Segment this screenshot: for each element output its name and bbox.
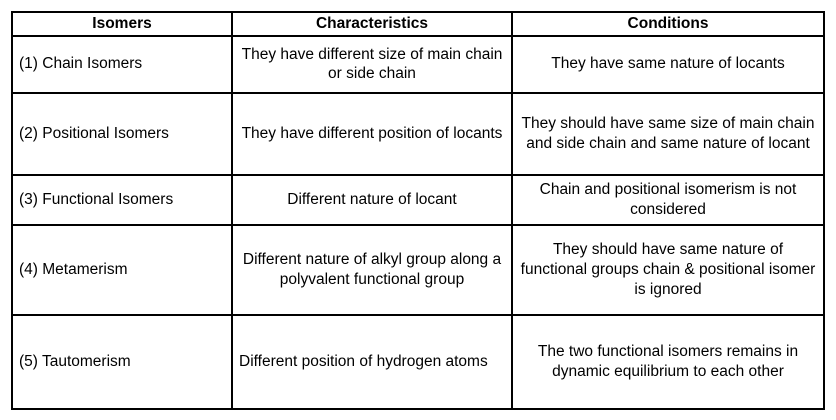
table-row: (3) Functional Isomers Different nature …: [12, 175, 824, 225]
cell-isomer-name: (3) Functional Isomers: [12, 175, 232, 225]
column-header-isomers: Isomers: [12, 12, 232, 36]
cell-isomer-name: (5) Tautomerism: [12, 315, 232, 409]
cell-characteristics: Different position of hydrogen atoms: [232, 315, 512, 409]
table-row: (4) Metamerism Different nature of alkyl…: [12, 225, 824, 315]
column-header-characteristics: Characteristics: [232, 12, 512, 36]
cell-conditions: They should have same nature of function…: [512, 225, 824, 315]
cell-isomer-name: (1) Chain Isomers: [12, 36, 232, 93]
cell-conditions: Chain and positional isomerism is not co…: [512, 175, 824, 225]
cell-conditions: They have same nature of locants: [512, 36, 824, 93]
cell-characteristics: They have different position of locants: [232, 93, 512, 175]
table-header-row: Isomers Characteristics Conditions: [12, 12, 824, 36]
isomer-comparison-table: Isomers Characteristics Conditions (1) C…: [11, 11, 825, 410]
table-row: (5) Tautomerism Different position of hy…: [12, 315, 824, 409]
cell-isomer-name: (2) Positional Isomers: [12, 93, 232, 175]
table-row: (2) Positional Isomers They have differe…: [12, 93, 824, 175]
table-row: (1) Chain Isomers They have different si…: [12, 36, 824, 93]
cell-conditions: They should have same size of main chain…: [512, 93, 824, 175]
cell-characteristics: Different nature of locant: [232, 175, 512, 225]
isomer-table-container: Isomers Characteristics Conditions (1) C…: [11, 11, 823, 410]
cell-characteristics: Different nature of alkyl group along a …: [232, 225, 512, 315]
cell-isomer-name: (4) Metamerism: [12, 225, 232, 315]
column-header-conditions: Conditions: [512, 12, 824, 36]
cell-conditions: The two functional isomers remains in dy…: [512, 315, 824, 409]
cell-characteristics: They have different size of main chain o…: [232, 36, 512, 93]
